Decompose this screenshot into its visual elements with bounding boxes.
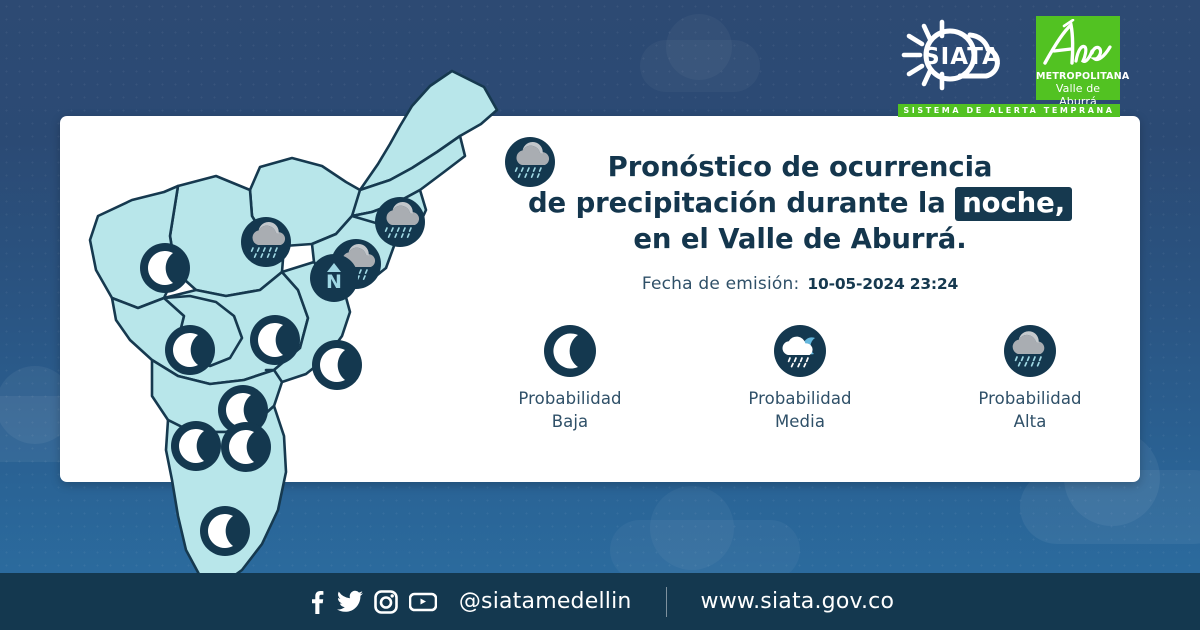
legend-label-baja: Probabilidad Baja — [495, 388, 645, 434]
emission-date-label: Fecha de emisión: — [642, 274, 800, 294]
headline-line-2-text: de precipitación durante la — [528, 187, 946, 219]
footer-divider — [666, 587, 667, 617]
legend-baja-line2: Baja — [552, 412, 589, 431]
website-url[interactable]: www.siata.gov.co — [701, 589, 895, 614]
legend-media-line1: Probabilidad — [748, 389, 851, 408]
legend-media-line2: Media — [775, 412, 825, 431]
emission-date-row: Fecha de emisión: 10-05-2024 23:24 — [470, 274, 1130, 294]
headline-line-1: Pronóstico de ocurrencia — [470, 150, 1130, 186]
youtube-icon[interactable] — [409, 591, 437, 613]
moon-icon — [544, 325, 596, 377]
footer-bar: @siatamedellin www.siata.gov.co — [0, 573, 1200, 630]
legend-baja-line1: Probabilidad — [518, 389, 621, 408]
valle-de-aburra-map: N — [60, 40, 480, 570]
twitter-icon[interactable] — [337, 590, 363, 614]
area-script-icon — [1040, 19, 1116, 71]
forecast-headline-panel: Pronóstico de ocurrencia de precipitació… — [470, 150, 1130, 294]
legend-item-media: Probabilidad Media — [725, 325, 875, 434]
logo-block: SIATA METROPOLITANA Valle de Aburrá SIST… — [898, 16, 1120, 112]
page-title: Pronóstico de ocurrencia de precipitació… — [470, 150, 1130, 257]
infographic-canvas: N Pronóstico de ocurrencia de precipitac… — [0, 0, 1200, 630]
facebook-icon[interactable] — [306, 590, 326, 614]
headline-line-2: de precipitación durante la noche, — [470, 186, 1130, 222]
legend-item-baja: Probabilidad Baja — [495, 325, 645, 434]
decor-cloud-icon — [640, 40, 760, 92]
decor-cloud-icon — [610, 520, 800, 580]
legend-alta-line2: Alta — [1014, 412, 1047, 431]
area-logo-line1: METROPOLITANA — [1036, 71, 1120, 82]
compass-north-icon: N — [310, 254, 358, 302]
cloud-rain-icon — [1004, 325, 1056, 377]
headline-line-3: en el Valle de Aburrá. — [470, 222, 1130, 258]
instagram-icon[interactable] — [374, 590, 398, 614]
area-metropolitana-logo: METROPOLITANA Valle de Aburrá — [1036, 16, 1120, 100]
siata-wordmark: SIATA — [923, 44, 1001, 70]
siata-logo: SIATA — [898, 18, 1028, 92]
cloud-moon-rain-icon — [774, 325, 826, 377]
legend-alta-line1: Probabilidad — [978, 389, 1081, 408]
legend-label-media: Probabilidad Media — [725, 388, 875, 434]
social-handle[interactable]: @siatamedellin — [459, 589, 632, 614]
social-icons — [306, 590, 437, 614]
legend-label-alta: Probabilidad Alta — [955, 388, 1105, 434]
compass-label: N — [326, 271, 342, 293]
legend-item-alta: Probabilidad Alta — [955, 325, 1105, 434]
probability-legend: Probabilidad Baja — [470, 325, 1130, 434]
headline-highlight-noche: noche, — [955, 187, 1072, 221]
early-warning-tagline: SISTEMA DE ALERTA TEMPRANA — [898, 104, 1120, 117]
emission-date-value: 10-05-2024 23:24 — [807, 275, 958, 293]
